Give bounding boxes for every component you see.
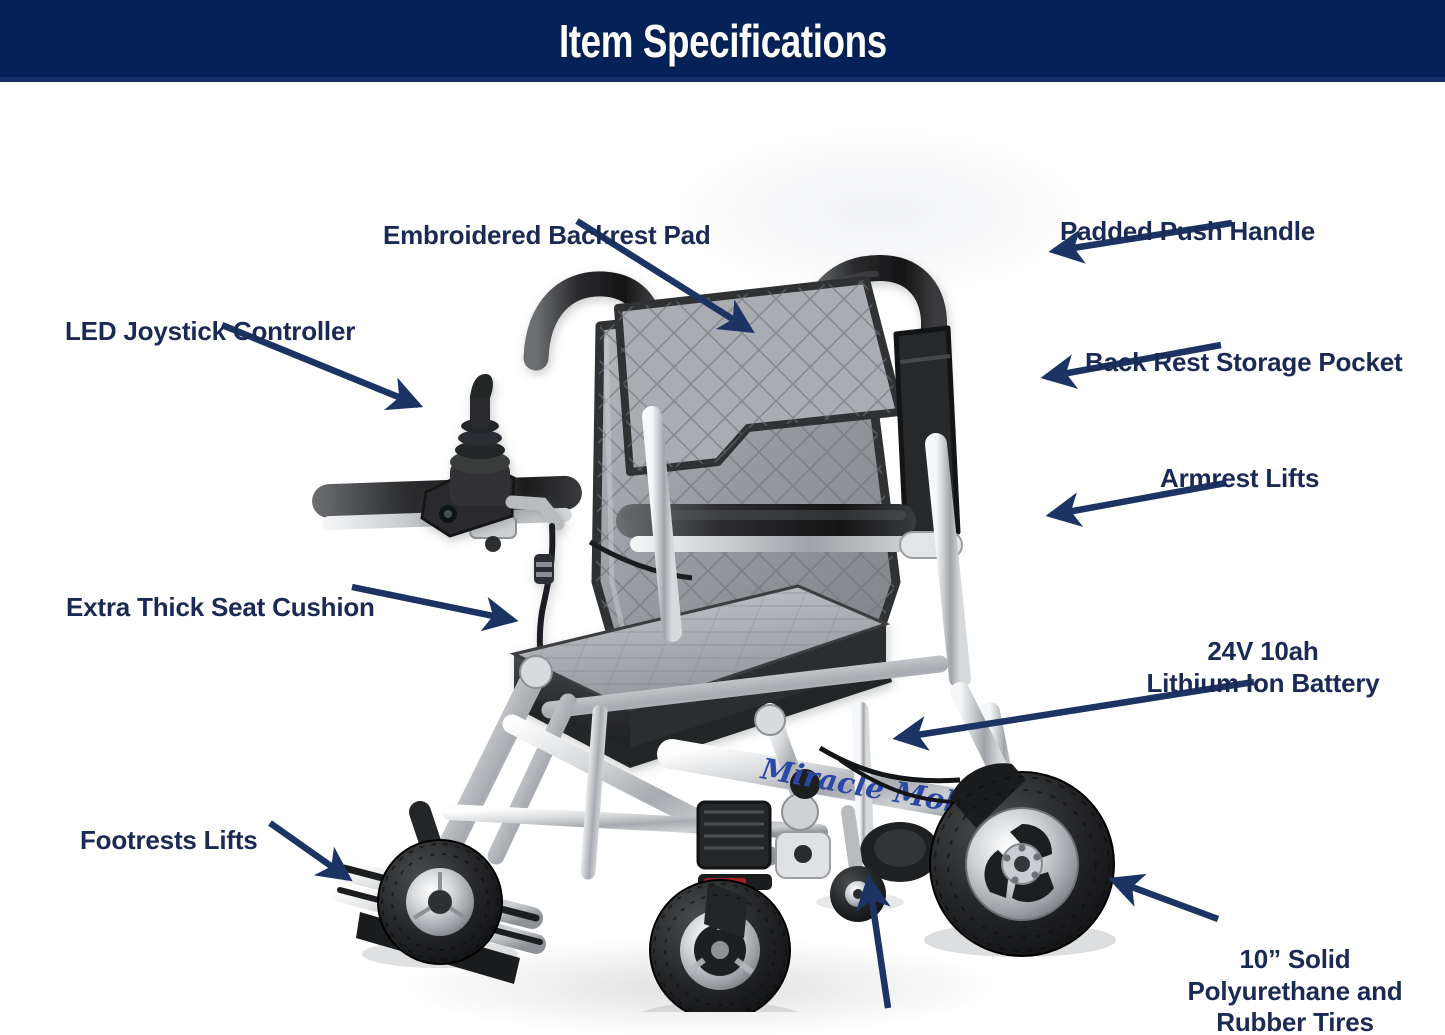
lithium-ion-battery-graphic [698,802,772,890]
joystick-stick [455,374,505,459]
callout-armrest-lifts: Armrest Lifts [1160,463,1319,495]
front-caster-wheel [378,812,502,964]
page-title: Item Specifications [559,14,887,68]
callout-battery: 24V 10ah Lithium Ion Battery [1118,636,1408,699]
callout-padded-push-handle: Padded Push Handle [1060,216,1315,248]
page-header-banner: Item Specifications [0,0,1445,82]
callout-extra-thick-seat-cushion: Extra Thick Seat Cushion [66,592,375,624]
rear-drive-wheel [930,692,1114,956]
specifications-page: Item Specifications [0,0,1445,1035]
callout-back-rest-storage-pocket: Back Rest Storage Pocket [1085,347,1402,379]
callout-embroidered-backrest-pad: Embroidered Backrest Pad [383,220,711,252]
front-tire-wheel [650,880,790,1012]
callout-led-joystick-controller: LED Joystick Controller [65,316,355,348]
callout-footrests-lifts: Footrests Lifts [80,825,258,857]
callout-rear-tires: 10” Solid Polyurethane and Rubber Tires [1150,944,1440,1035]
product-photo-stage: Miracle Mobility [0,82,1445,1035]
